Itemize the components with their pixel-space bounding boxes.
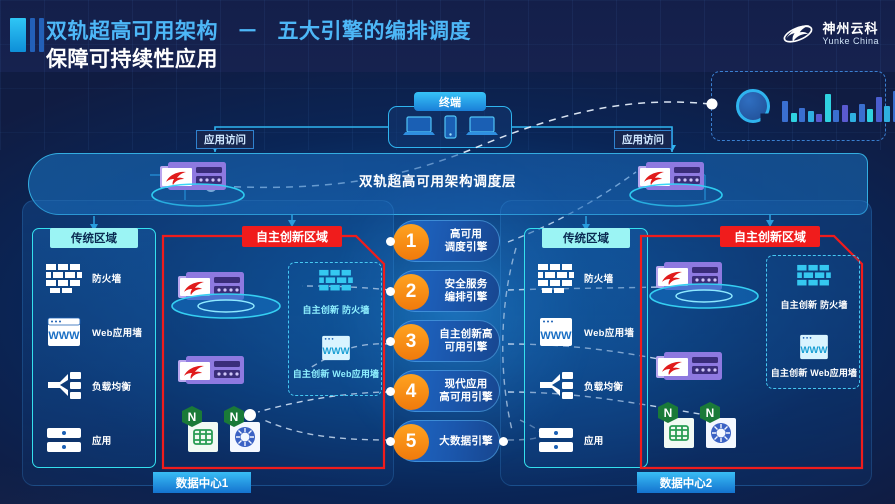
application-server-icon — [536, 426, 576, 454]
yunke-appliance-icon — [176, 352, 252, 392]
traditional-zone-title-2: 传统区域 — [542, 228, 630, 248]
analytics-card — [711, 71, 886, 141]
engine-item-1[interactable]: 1 高可用 调度引擎 — [394, 220, 500, 262]
load-balancer-icon — [536, 371, 576, 401]
engine-label: 自主创新高 可用引擎 — [433, 328, 499, 354]
web-window-www-icon: WWW — [44, 317, 84, 347]
engine-number: 4 — [393, 374, 429, 410]
zone-item-label: Web应用墙 — [92, 325, 142, 339]
svg-text:WWW: WWW — [540, 330, 572, 342]
connector-dot — [386, 287, 395, 296]
zone-item-label: 应用 — [584, 433, 604, 447]
inner-item-firewall[interactable]: 自主创新 防火墙 — [289, 269, 383, 316]
svg-text:N: N — [664, 406, 673, 420]
laptop-icon — [465, 115, 499, 139]
engine-item-4[interactable]: 4 现代应用 高可用引擎 — [394, 370, 500, 412]
traditional-zone-1: 防火墙 WWW Web应用墙 — [32, 228, 156, 468]
engine-number: 2 — [393, 274, 429, 310]
zone-item-load-balancer[interactable]: 负载均衡 — [525, 359, 649, 413]
engine-item-2[interactable]: 2 安全服务 编排引擎 — [394, 270, 500, 312]
web-window-www-icon: WWW — [799, 334, 829, 360]
scheduling-layer-title: 双轨超高可用架构调度层 — [359, 170, 516, 190]
laptop-icon — [402, 115, 436, 139]
phone-icon — [444, 115, 457, 139]
engine-label: 高可用 调度引擎 — [433, 228, 499, 254]
web-window-www-icon: WWW — [321, 335, 351, 361]
brand-name-cn: 神州云科 — [822, 22, 879, 35]
datacenter-badge-1: 数据中心1 — [153, 472, 251, 493]
donut-chart-icon — [736, 89, 770, 123]
zone-item-firewall[interactable]: 防火墙 — [525, 251, 649, 305]
load-balancer-icon — [44, 371, 84, 401]
innovation-cluster-1: N N — [178, 404, 264, 454]
web-window-www-icon: WWW — [536, 317, 576, 347]
inner-item-label: 自主创新 防火墙 — [767, 300, 861, 311]
cluster-platter — [646, 282, 762, 316]
svg-text:N: N — [188, 410, 197, 424]
access-label-right: 应用访问 — [614, 130, 672, 149]
connector-dot — [386, 337, 395, 346]
innovation-inner-group-1: 自主创新 防火墙 WWW 自主创新 Web应用墙 — [288, 262, 382, 396]
header-accent-bars — [10, 18, 44, 52]
innovation-cluster-2: N N — [654, 400, 740, 450]
zone-item-label: 应用 — [92, 433, 112, 447]
zone-item-label: Web应用墙 — [584, 325, 634, 339]
engine-item-3[interactable]: 3 自主创新高 可用引擎 — [394, 320, 500, 362]
zone-item-load-balancer[interactable]: 负载均衡 — [33, 359, 157, 413]
terminal-card — [388, 106, 512, 148]
connector-dot — [386, 237, 395, 246]
engine-label: 大数据引擎 — [433, 435, 499, 448]
innovation-inner-group-2: 自主创新 防火墙 WWW 自主创新 Web应用墙 — [766, 255, 860, 389]
inner-item-label: 自主创新 防火墙 — [289, 305, 383, 316]
engine-item-5[interactable]: 5 大数据引擎 — [394, 420, 500, 462]
engine-list: 1 高可用 调度引擎 2 安全服务 编排引擎 3 自主创新高 可用引擎 4 现代… — [394, 220, 504, 470]
engine-label: 安全服务 编排引擎 — [433, 278, 499, 304]
page-title-line2: 保障可持续性应用 — [46, 43, 218, 73]
zone-item-firewall[interactable]: 防火墙 — [33, 251, 157, 305]
traditional-zone-title-1: 传统区域 — [50, 228, 138, 248]
engine-number: 1 — [393, 224, 429, 260]
zone-item-label: 负载均衡 — [584, 379, 623, 393]
zone-item-application[interactable]: 应用 — [525, 413, 649, 467]
engine-number: 3 — [393, 324, 429, 360]
firewall-brick-icon — [796, 264, 832, 292]
cluster-platter — [168, 292, 284, 326]
access-label-left: 应用访问 — [196, 130, 254, 149]
zone-item-label: 负载均衡 — [92, 379, 131, 393]
innovation-zone-title-2: 自主创新区域 — [720, 226, 820, 247]
firewall-brick-icon — [318, 269, 354, 297]
firewall-brick-icon — [44, 263, 84, 293]
zone-item-label: 防火墙 — [584, 271, 613, 285]
engine-label: 现代应用 高可用引擎 — [433, 378, 499, 404]
slide-canvas: 双轨超高可用架构 － 五大引擎的编排调度 保障可持续性应用 神州云科 Yunke… — [0, 0, 895, 504]
brand-logo: 神州云科 Yunke China — [781, 20, 879, 48]
connector-dot — [386, 387, 395, 396]
engine-number: 5 — [393, 424, 429, 460]
terminal-badge: 终端 — [414, 92, 486, 111]
inner-item-web-app-wall[interactable]: WWW 自主创新 Web应用墙 — [767, 334, 861, 379]
zone-item-web-app-wall[interactable]: WWW Web应用墙 — [525, 305, 649, 359]
yunke-swirl-icon — [781, 20, 815, 48]
zone-item-label: 防火墙 — [92, 271, 121, 285]
page-title-line1: 双轨超高可用架构 － 五大引擎的编排调度 — [46, 15, 471, 45]
inner-item-label: 自主创新 Web应用墙 — [767, 368, 861, 379]
inner-item-firewall[interactable]: 自主创新 防火墙 — [767, 264, 861, 311]
innovation-zone-title-1: 自主创新区域 — [242, 226, 342, 247]
inner-item-web-app-wall[interactable]: WWW 自主创新 Web应用墙 — [289, 335, 383, 380]
application-server-icon — [44, 426, 84, 454]
datacenter-badge-2: 数据中心2 — [637, 472, 735, 493]
svg-text:N: N — [230, 410, 239, 424]
zone-item-application[interactable]: 应用 — [33, 413, 157, 467]
svg-text:N: N — [706, 406, 715, 420]
inner-item-label: 自主创新 Web应用墙 — [289, 369, 383, 380]
svg-text:WWW: WWW — [801, 345, 828, 356]
connector-dot — [386, 437, 395, 446]
bar-chart-icon — [782, 86, 895, 122]
connector-dot — [499, 437, 508, 446]
traditional-zone-2: 防火墙 WWW Web应用墙 — [524, 228, 648, 468]
brand-name-en: Yunke China — [822, 37, 879, 46]
zone-item-web-app-wall[interactable]: WWW Web应用墙 — [33, 305, 157, 359]
svg-text:WWW: WWW — [323, 346, 350, 357]
yunke-appliance-icon — [654, 348, 730, 388]
firewall-brick-icon — [536, 263, 576, 293]
svg-text:WWW: WWW — [48, 330, 80, 342]
